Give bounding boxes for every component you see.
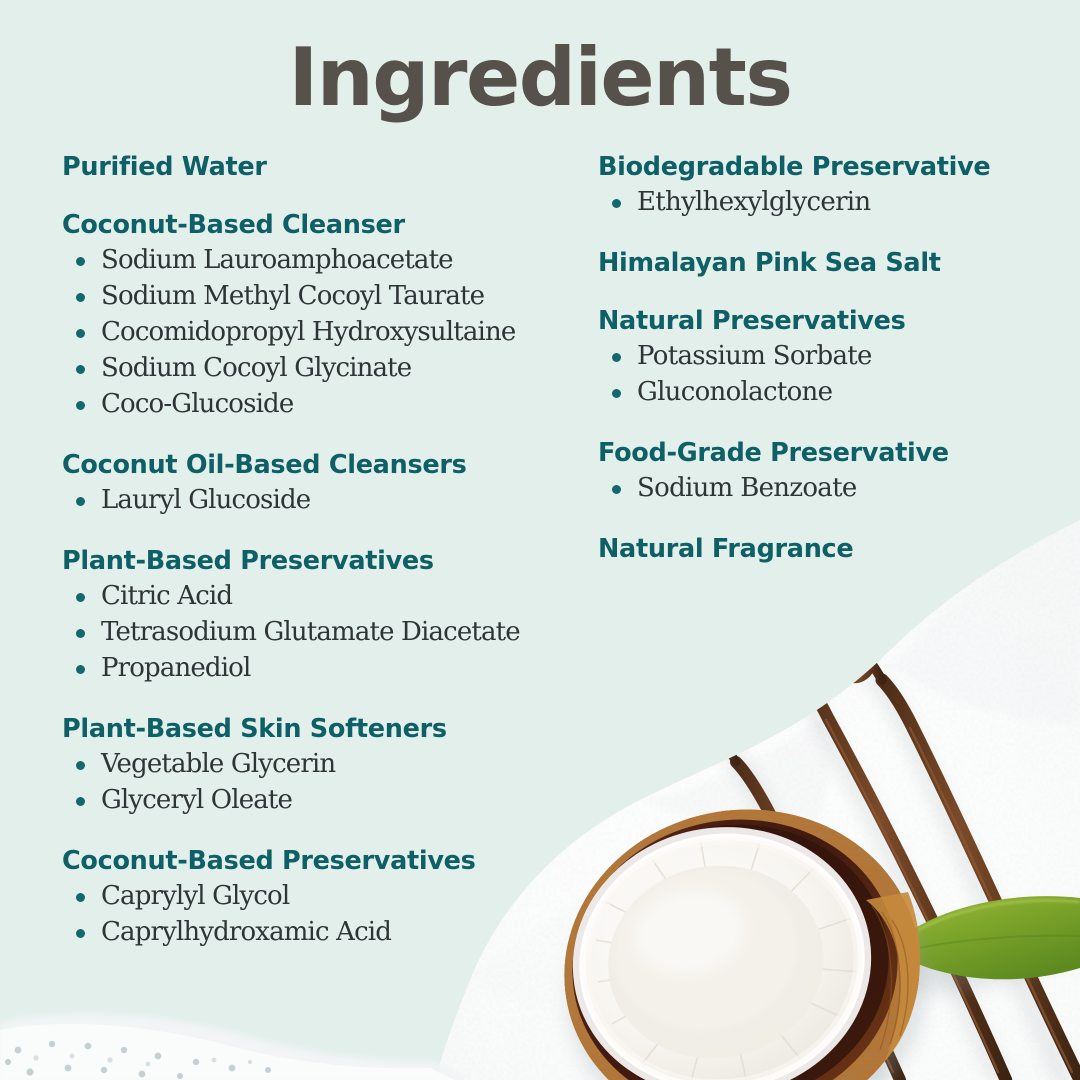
ingredient-item-label: Sodium Cocoyl Glycinate <box>101 353 411 383</box>
towel-corner <box>0 1014 470 1080</box>
bullet-icon <box>76 293 85 302</box>
ingredient-item-label: Caprylhydroxamic Acid <box>101 917 391 947</box>
ingredient-list: Lauryl Glucoside <box>62 482 582 518</box>
ingredient-group-natural-fragrance: Natural Fragrance <box>598 534 1058 564</box>
ingredient-item: Caprylhydroxamic Acid <box>76 914 582 950</box>
bullet-icon <box>76 893 85 902</box>
vanilla-bean <box>757 644 1006 1080</box>
ingredient-group-himalayan-pink-sea-salt: Himalayan Pink Sea Salt <box>598 248 1058 278</box>
bullet-icon <box>76 797 85 806</box>
bullet-icon <box>76 497 85 506</box>
ingredient-item: Propanediol <box>76 650 582 686</box>
bullet-icon <box>76 365 85 374</box>
ingredient-item: Vegetable Glycerin <box>76 746 582 782</box>
ingredient-list: Citric AcidTetrasodium Glutamate Diaceta… <box>62 578 582 686</box>
page-title: Ingredients <box>0 36 1080 120</box>
ingredient-item: Caprylyl Glycol <box>76 878 582 914</box>
ingredient-item-label: Sodium Benzoate <box>637 473 857 503</box>
ingredient-group-plant-based-skin-softeners: Plant-Based Skin SoftenersVegetable Glyc… <box>62 714 582 818</box>
ingredient-item-label: Sodium Methyl Cocoyl Taurate <box>101 281 484 311</box>
ingredient-group-plant-based-preservatives: Plant-Based PreservativesCitric AcidTetr… <box>62 546 582 686</box>
ingredient-item-label: Potassium Sorbate <box>637 341 872 371</box>
ingredient-group-coconut-based-cleanser: Coconut-Based CleanserSodium Lauroamphoa… <box>62 210 582 422</box>
ingredient-list: Vegetable GlycerinGlyceryl Oleate <box>62 746 582 818</box>
vanilla-bean <box>841 652 1080 1080</box>
bullet-icon <box>612 389 621 398</box>
ingredient-group-heading: Coconut-Based Cleanser <box>62 210 582 240</box>
ingredient-group-heading: Coconut-Based Preservatives <box>62 846 582 876</box>
ingredient-item-label: Tetrasodium Glutamate Diacetate <box>101 617 520 647</box>
ingredient-item-label: Caprylyl Glycol <box>101 881 289 911</box>
ingredient-item: Sodium Methyl Cocoyl Taurate <box>76 278 582 314</box>
ingredient-group-heading: Purified Water <box>62 152 582 182</box>
ingredient-group-coconut-based-preservatives: Coconut-Based PreservativesCaprylyl Glyc… <box>62 846 582 950</box>
ingredient-group-heading: Natural Preservatives <box>598 306 1058 336</box>
ingredient-list: Caprylyl GlycolCaprylhydroxamic Acid <box>62 878 582 950</box>
ingredient-group-food-grade-preservative: Food-Grade PreservativeSodium Benzoate <box>598 438 1058 506</box>
ingredient-group-heading: Plant-Based Skin Softeners <box>62 714 582 744</box>
ingredient-group-coconut-oil-based-cleansers: Coconut Oil-Based CleansersLauryl Glucos… <box>62 450 582 518</box>
ingredient-item-label: Citric Acid <box>101 581 232 611</box>
ingredient-group-purified-water: Purified Water <box>62 152 582 182</box>
ingredient-item: Potassium Sorbate <box>612 338 1058 374</box>
ingredient-item: Lauryl Glucoside <box>76 482 582 518</box>
ingredient-item-label: Coco-Glucoside <box>101 389 293 419</box>
bullet-icon <box>612 199 621 208</box>
ingredient-list: Sodium Benzoate <box>598 470 1058 506</box>
ingredient-item: Sodium Cocoyl Glycinate <box>76 350 582 386</box>
bullet-icon <box>76 629 85 638</box>
ingredient-item: Cocomidopropyl Hydroxysultaine <box>76 314 582 350</box>
green-leaf <box>876 896 1080 1007</box>
ingredients-column-right: Biodegradable PreservativeEthylhexylglyc… <box>598 152 1058 566</box>
coconut-half <box>541 784 949 1080</box>
ingredient-item-label: Propanediol <box>101 653 250 683</box>
ingredient-item: Glyceryl Oleate <box>76 782 582 818</box>
ingredient-item: Citric Acid <box>76 578 582 614</box>
bullet-icon <box>76 929 85 938</box>
ingredients-column-left: Purified WaterCoconut-Based CleanserSodi… <box>62 152 582 950</box>
ingredient-list: Potassium SorbateGluconolactone <box>598 338 1058 410</box>
ingredient-group-heading: Himalayan Pink Sea Salt <box>598 248 1058 278</box>
ingredient-item-label: Lauryl Glucoside <box>101 485 310 515</box>
ingredient-list: Ethylhexylglycerin <box>598 184 1058 220</box>
vanilla-bean-group <box>695 644 1080 1080</box>
ingredient-group-biodegradable-preservative: Biodegradable PreservativeEthylhexylglyc… <box>598 152 1058 220</box>
ingredient-item-label: Vegetable Glycerin <box>101 749 335 779</box>
bullet-icon <box>76 401 85 410</box>
ingredient-item: Sodium Benzoate <box>612 470 1058 506</box>
ingredient-item-label: Cocomidopropyl Hydroxysultaine <box>101 317 515 347</box>
bullet-icon <box>76 761 85 770</box>
ingredient-group-heading: Plant-Based Preservatives <box>62 546 582 576</box>
bullet-icon <box>612 485 621 494</box>
bullet-icon <box>76 257 85 266</box>
ingredient-item-label: Glyceryl Oleate <box>101 785 292 815</box>
ingredient-item: Gluconolactone <box>612 374 1058 410</box>
ingredient-group-heading: Food-Grade Preservative <box>598 438 1058 468</box>
ingredient-item: Sodium Lauroamphoacetate <box>76 242 582 278</box>
ingredient-group-heading: Biodegradable Preservative <box>598 152 1058 182</box>
ingredient-item-label: Sodium Lauroamphoacetate <box>101 245 453 275</box>
ingredient-group-heading: Natural Fragrance <box>598 534 1058 564</box>
bullet-icon <box>76 329 85 338</box>
bullet-icon <box>612 353 621 362</box>
ingredient-item-label: Gluconolactone <box>637 377 832 407</box>
ingredient-item-label: Ethylhexylglycerin <box>637 187 870 217</box>
ingredient-item: Ethylhexylglycerin <box>612 184 1058 220</box>
ingredient-item: Tetrasodium Glutamate Diacetate <box>76 614 582 650</box>
ingredient-list: Sodium LauroamphoacetateSodium Methyl Co… <box>62 242 582 422</box>
ingredients-graphic: Ingredients Purified WaterCoconut-Based … <box>0 0 1080 1080</box>
vanilla-bean <box>695 734 900 1080</box>
ingredient-group-natural-preservatives: Natural PreservativesPotassium SorbateGl… <box>598 306 1058 410</box>
bullet-icon <box>76 665 85 674</box>
bullet-icon <box>76 593 85 602</box>
ingredient-group-heading: Coconut Oil-Based Cleansers <box>62 450 582 480</box>
ingredient-item: Coco-Glucoside <box>76 386 582 422</box>
